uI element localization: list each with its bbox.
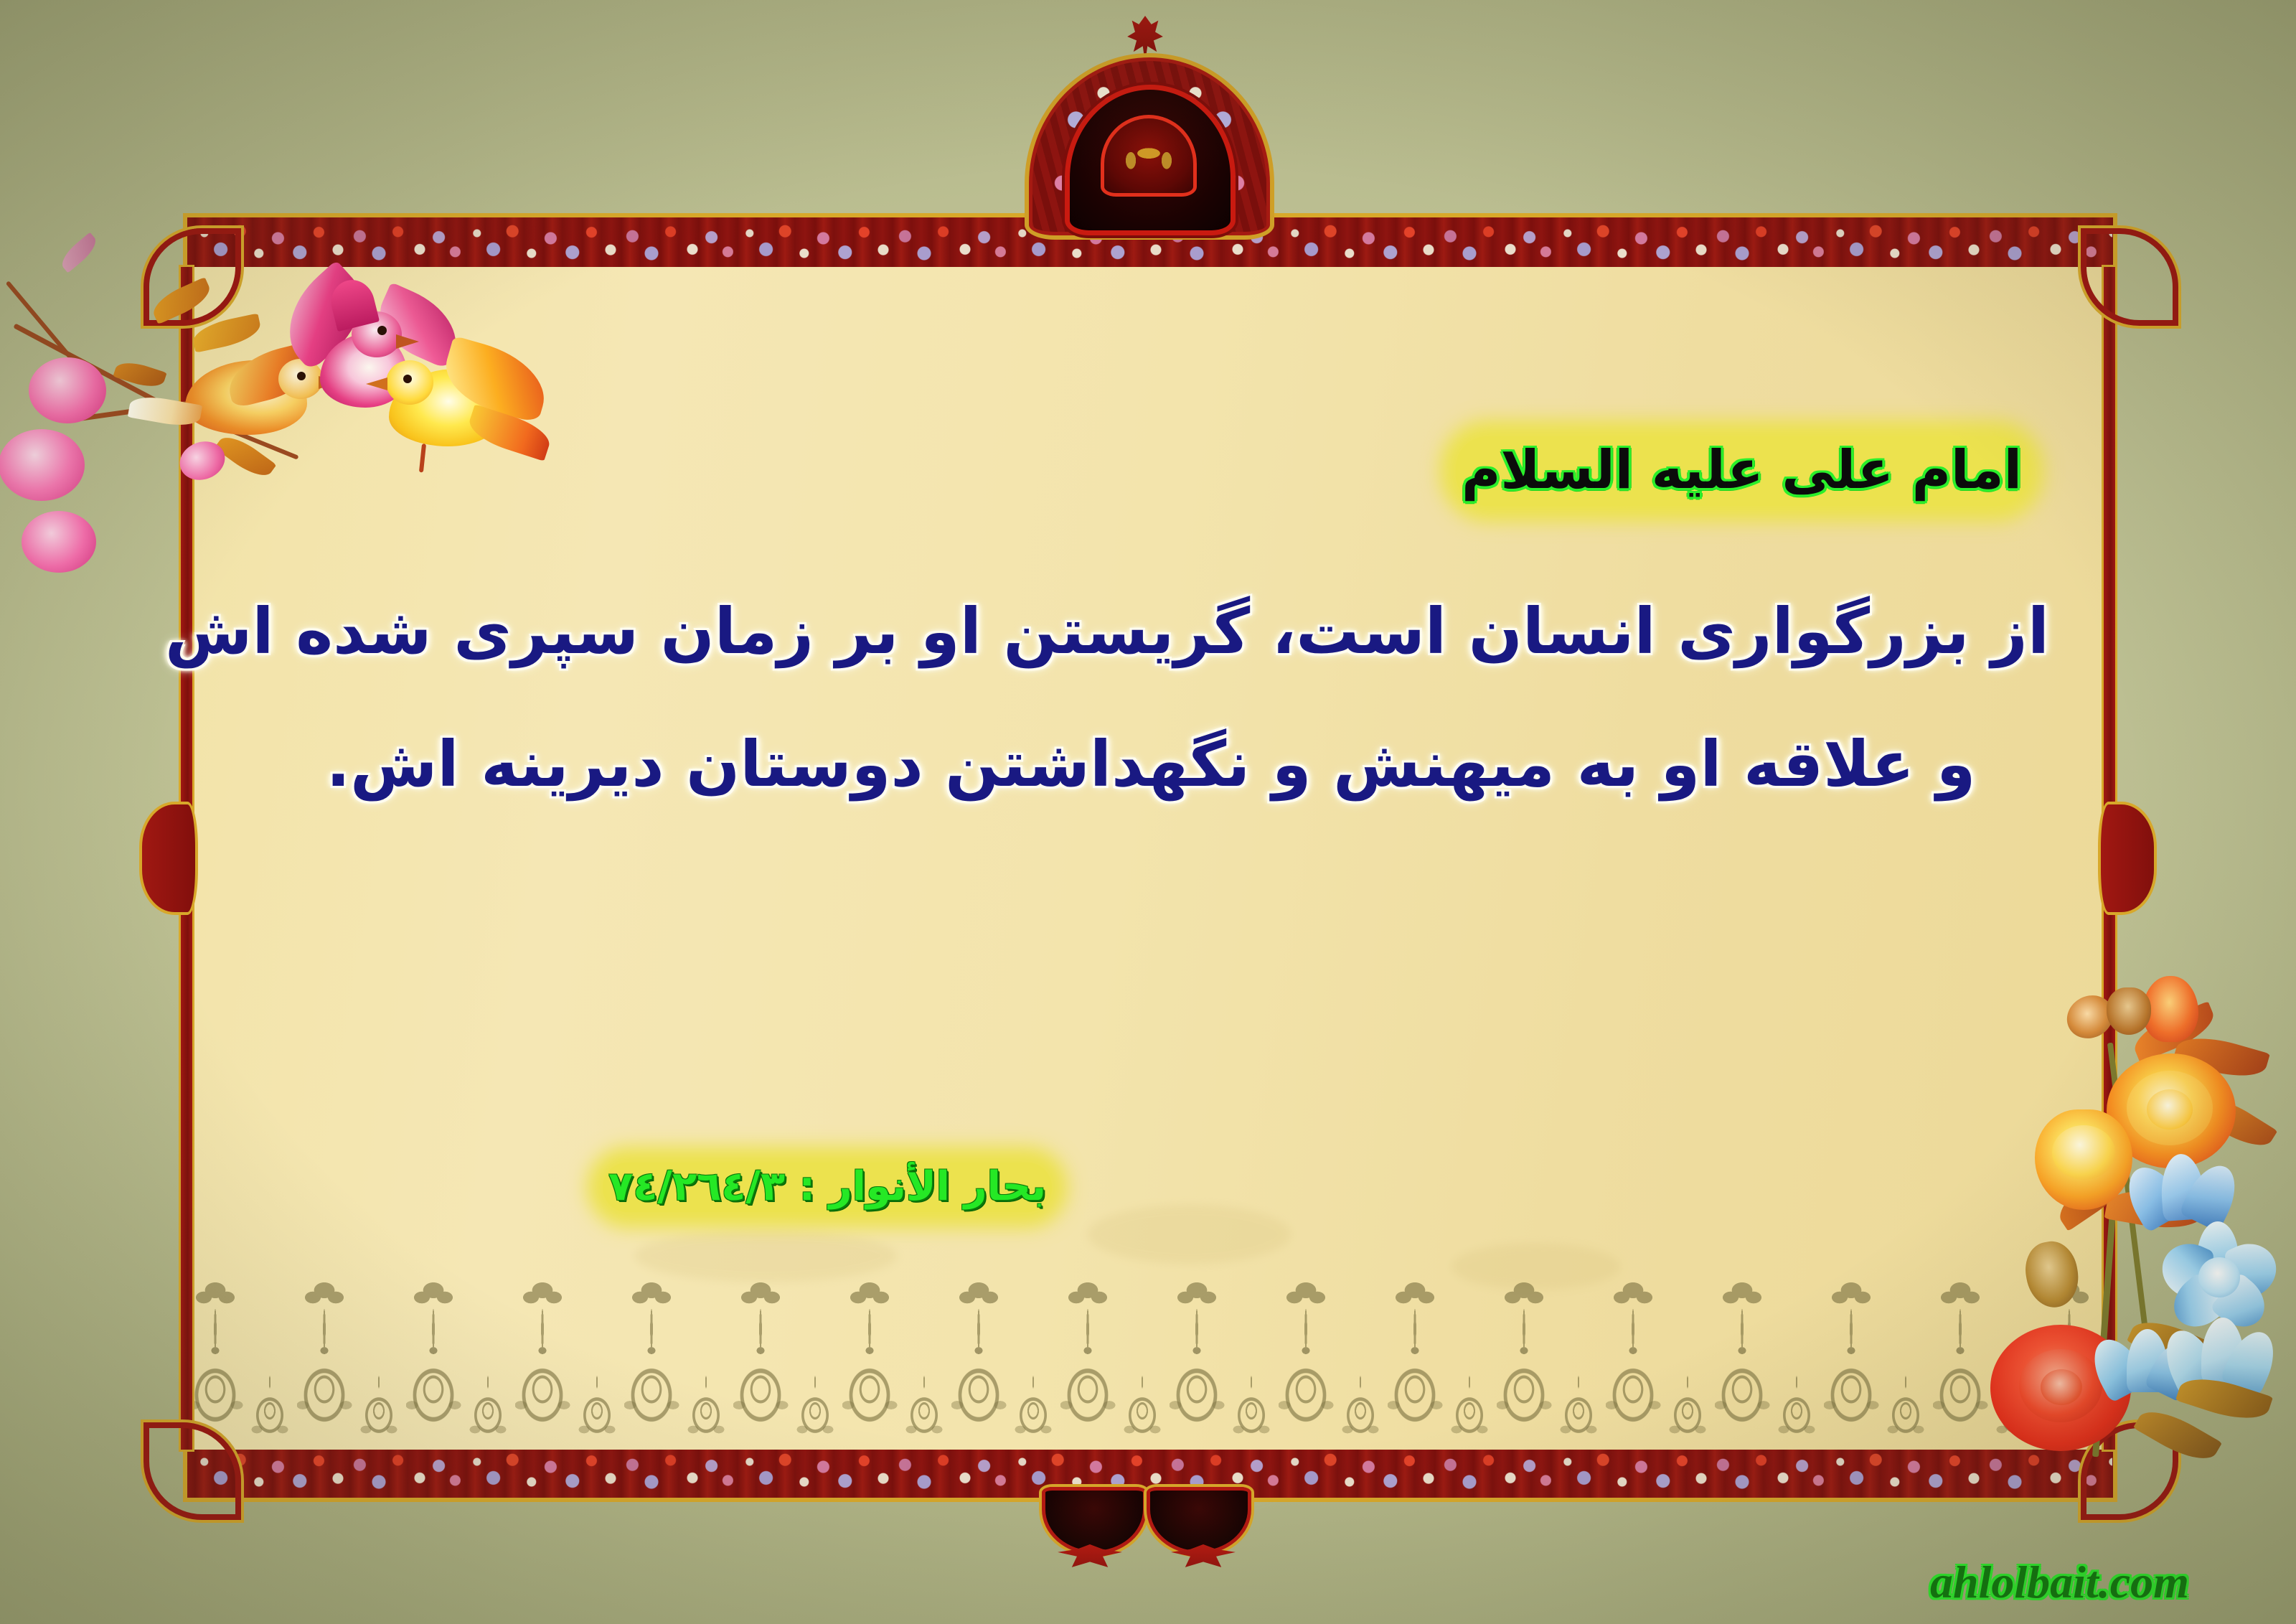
leaf [113,357,166,392]
page-title: امام علی علیه السلام [1462,439,2022,501]
bottom-ornament-lobe-left [1042,1487,1147,1554]
blossom [0,429,85,501]
blossom [22,511,96,573]
site-watermark: ahlolbait.com [1930,1556,2189,1609]
source-citation: بحار الأنوار : ٧٤/٢٦٤/٣ [608,1163,1046,1210]
top-medallion-ornament [1012,16,1279,231]
speaker-title-row: امام علی علیه السلام [1456,436,2028,506]
leaf [57,233,100,273]
quote-line-2: و علاقه او به میهنش و نگهداشتن دوستان دی… [253,730,2049,799]
blossom [29,357,106,423]
poster-canvas: امام علی علیه السلام از بزرگواری انسان ا… [0,0,2296,1624]
poster-text-content: امام علی علیه السلام از بزرگواری انسان ا… [188,267,2114,1450]
blue-flower-center [2198,1257,2240,1297]
title-highlight: امام علی علیه السلام [1456,436,2028,506]
blue-flower-star [2158,1221,2280,1332]
rose-center [2147,1089,2193,1130]
source-citation-row: بحار الأنوار : ٧٤/٢٦٤/٣ [603,1163,1052,1212]
medallion-core-floral [1101,115,1197,197]
bottom-medallion-ornament [1039,1487,1254,1580]
quote-line-1: از بزرگواری انسان است، گریستن او بر زمان… [253,597,2049,667]
quote-block: از بزرگواری انسان است، گریستن او بر زمان… [253,597,2049,863]
source-highlight: بحار الأنوار : ٧٤/٢٦٤/٣ [603,1163,1052,1212]
bottom-ornament-lobe-right [1147,1487,1251,1554]
